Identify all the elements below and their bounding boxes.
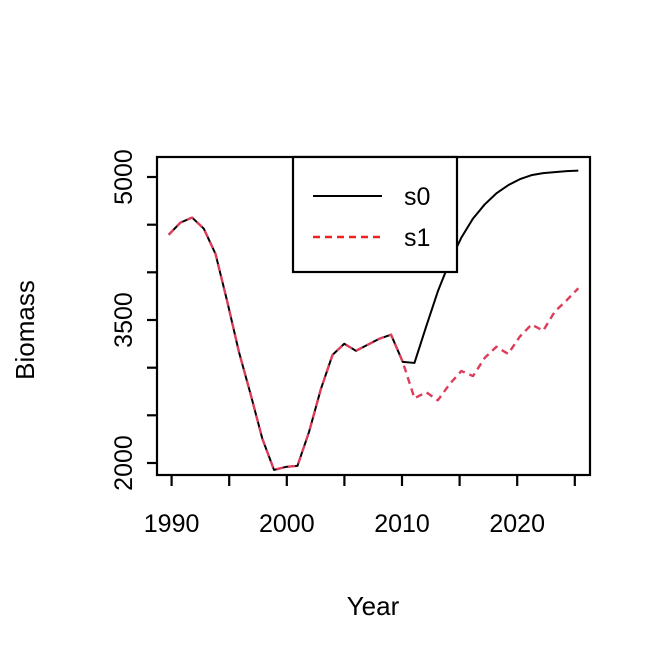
y-axis-ticks [147, 177, 157, 463]
legend-label-s1: s1 [404, 224, 430, 252]
chart-container: 5000 3500 2000 1990 2000 2010 2020 Bioma… [0, 0, 672, 672]
x-tick-label-2020: 2020 [489, 510, 545, 538]
y-tick-label-5000: 5000 [110, 149, 138, 205]
x-axis-ticks [172, 475, 575, 486]
y-tick-label-2000: 2000 [110, 435, 138, 491]
x-tick-label-1990: 1990 [144, 510, 200, 538]
biomass-line-chart: 5000 3500 2000 1990 2000 2010 2020 Bioma… [0, 0, 672, 672]
y-tick-labels: 5000 3500 2000 [110, 149, 138, 491]
x-tick-label-2000: 2000 [259, 510, 315, 538]
x-axis-title: Year [347, 591, 400, 621]
legend-frame [293, 157, 457, 272]
y-axis-title: Biomass [10, 280, 40, 380]
x-tick-label-2010: 2010 [374, 510, 430, 538]
x-tick-labels: 1990 2000 2010 2020 [144, 510, 545, 538]
chart-legend: s0 s1 [293, 157, 457, 272]
legend-label-s0: s0 [404, 183, 430, 211]
y-tick-label-3500: 3500 [110, 292, 138, 348]
